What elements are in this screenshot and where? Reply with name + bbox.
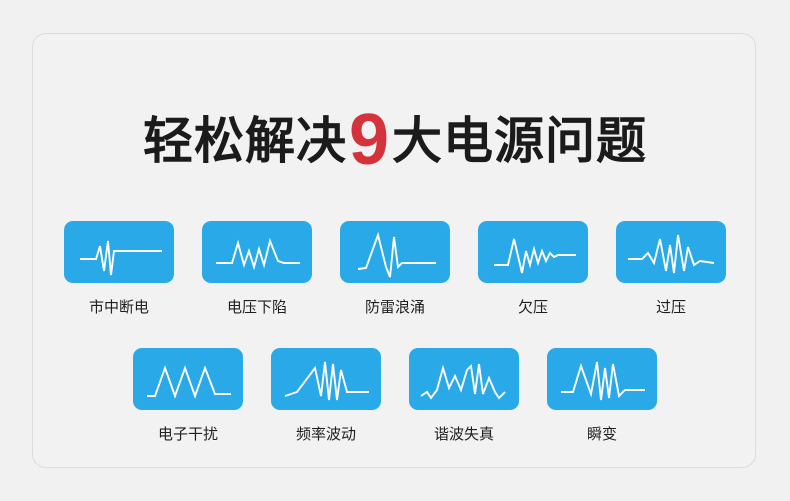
waveform-surge-icon[interactable]: [340, 221, 450, 283]
power-problem-label: 频率波动: [296, 426, 356, 444]
page-title-suffix: 大电源问题: [392, 113, 647, 169]
power-problem-item[interactable]: 防雷浪涌: [332, 221, 458, 317]
content-card: 轻松解决9大电源问题 市中断电电压下陷防雷浪涌欠压过压 电子干扰频率波动谐波失真…: [32, 33, 756, 468]
power-problem-item[interactable]: 瞬变: [539, 348, 665, 444]
power-problem-label: 瞬变: [587, 426, 617, 444]
power-problem-label: 电子干扰: [158, 426, 218, 444]
waveform-power-outage-icon[interactable]: [64, 221, 174, 283]
power-problem-item[interactable]: 欠压: [470, 221, 596, 317]
power-problem-label: 谐波失真: [434, 426, 494, 444]
power-problem-label: 过压: [656, 299, 686, 317]
power-problem-label: 电压下陷: [227, 299, 287, 317]
power-problem-row-2: 电子干扰频率波动谐波失真瞬变: [33, 348, 757, 444]
waveform-transient-icon[interactable]: [547, 348, 657, 410]
waveform-harmonic-distortion-icon[interactable]: [409, 348, 519, 410]
page-title-prefix: 轻松解决: [143, 113, 347, 169]
page-root: 轻松解决9大电源问题 市中断电电压下陷防雷浪涌欠压过压 电子干扰频率波动谐波失真…: [0, 0, 790, 501]
power-problem-item[interactable]: 谐波失真: [401, 348, 527, 444]
power-problem-label: 防雷浪涌: [365, 299, 425, 317]
power-problem-item[interactable]: 频率波动: [263, 348, 389, 444]
page-title: 轻松解决9大电源问题: [33, 106, 757, 176]
waveform-undervoltage-icon[interactable]: [478, 221, 588, 283]
power-problem-item[interactable]: 电压下陷: [194, 221, 320, 317]
page-title-highlight-number: 9: [347, 100, 392, 180]
waveform-electronic-interference-icon[interactable]: [133, 348, 243, 410]
power-problem-item[interactable]: 市中断电: [56, 221, 182, 317]
power-problem-row-1: 市中断电电压下陷防雷浪涌欠压过压: [33, 221, 757, 317]
power-problem-item[interactable]: 电子干扰: [125, 348, 251, 444]
waveform-voltage-sag-icon[interactable]: [202, 221, 312, 283]
power-problem-label: 欠压: [518, 299, 548, 317]
waveform-overvoltage-icon[interactable]: [616, 221, 726, 283]
power-problem-item[interactable]: 过压: [608, 221, 734, 317]
power-problem-label: 市中断电: [89, 299, 149, 317]
waveform-frequency-fluctuation-icon[interactable]: [271, 348, 381, 410]
